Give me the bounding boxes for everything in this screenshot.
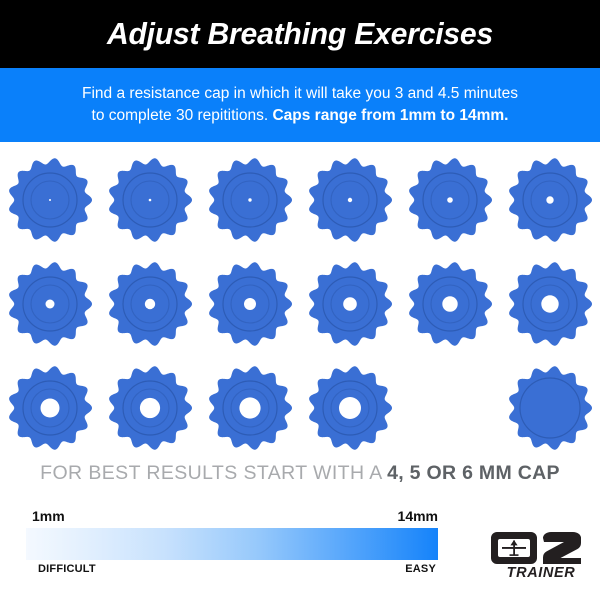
cap-slot xyxy=(200,150,300,250)
cap-slot xyxy=(400,358,500,458)
best-results-line: FOR BEST RESULTS START WITH A 4, 5 OR 6 … xyxy=(0,462,600,485)
header-bar: Adjust Breathing Exercises xyxy=(0,0,600,68)
cap-slot xyxy=(0,150,100,250)
airplane-icon xyxy=(502,540,526,556)
cap-slot xyxy=(200,358,300,458)
cap-slot xyxy=(100,358,200,458)
cap-4mm xyxy=(306,156,394,244)
cap-5mm xyxy=(406,156,494,244)
cap-slot xyxy=(100,150,200,250)
logo-wordmark: TRAINER xyxy=(507,565,576,580)
best-results-light-text: FOR BEST RESULTS START WITH A xyxy=(40,462,382,484)
cap-13mm xyxy=(6,364,94,452)
instruction-line-2-bold: Caps range from 1mm to 14mm. xyxy=(272,107,508,124)
cap-12mm xyxy=(506,260,594,348)
scale-max-label: 14mm xyxy=(398,508,438,524)
difficulty-scale: 1mm 14mm DIFFICULT EASY xyxy=(26,508,438,583)
scale-gradient-bar xyxy=(26,528,438,560)
cap-7mm xyxy=(6,260,94,348)
cap-slot xyxy=(300,150,400,250)
scale-top-labels: 1mm 14mm xyxy=(26,508,438,528)
best-results-bold-text: 4, 5 OR 6 MM CAP xyxy=(387,462,560,484)
cap-slot xyxy=(300,254,400,354)
cap-2mm xyxy=(106,156,194,244)
cap-8mm xyxy=(106,260,194,348)
caps-row-3 xyxy=(0,358,600,458)
cap-3mm xyxy=(206,156,294,244)
page-title: Adjust Breathing Exercises xyxy=(107,16,493,52)
cap-slot xyxy=(0,254,100,354)
scale-bottom-labels: DIFFICULT EASY xyxy=(26,563,438,583)
cap-slot xyxy=(400,254,500,354)
cap-15mm xyxy=(206,364,294,452)
cap-slot xyxy=(500,254,600,354)
logo-two-icon xyxy=(543,532,581,564)
cap-slot xyxy=(400,150,500,250)
cap-slot xyxy=(500,150,600,250)
instruction-line-2-normal: to complete 30 repititions. xyxy=(92,107,269,124)
caps-row-2 xyxy=(0,254,600,354)
scale-difficult-label: DIFFICULT xyxy=(38,563,96,575)
o2-trainer-logo: TRAINER xyxy=(489,528,593,580)
caps-row-1 xyxy=(0,150,600,250)
instruction-line-1: Find a resistance cap in which it will t… xyxy=(82,83,518,105)
cap-slot xyxy=(100,254,200,354)
logo-artwork: TRAINER xyxy=(489,528,593,580)
cap-slot xyxy=(200,254,300,354)
cap-11mm xyxy=(406,260,494,348)
scale-easy-label: EASY xyxy=(405,563,436,575)
cap-6mm xyxy=(506,156,594,244)
cap-10mm xyxy=(306,260,394,348)
instruction-band: Find a resistance cap in which it will t… xyxy=(0,68,600,142)
cap-slot xyxy=(500,358,600,458)
cap-1mm xyxy=(6,156,94,244)
cap-16mm xyxy=(306,364,394,452)
cap-slot xyxy=(0,358,100,458)
cap-9mm xyxy=(206,260,294,348)
cap-solid xyxy=(506,364,594,452)
infographic-page: Adjust Breathing Exercises Find a resist… xyxy=(0,0,600,589)
scale-min-label: 1mm xyxy=(32,508,65,524)
cap-14mm xyxy=(106,364,194,452)
caps-grid xyxy=(0,150,600,455)
cap-slot xyxy=(300,358,400,458)
instruction-line-2: to complete 30 repititions. Caps range f… xyxy=(92,105,509,127)
